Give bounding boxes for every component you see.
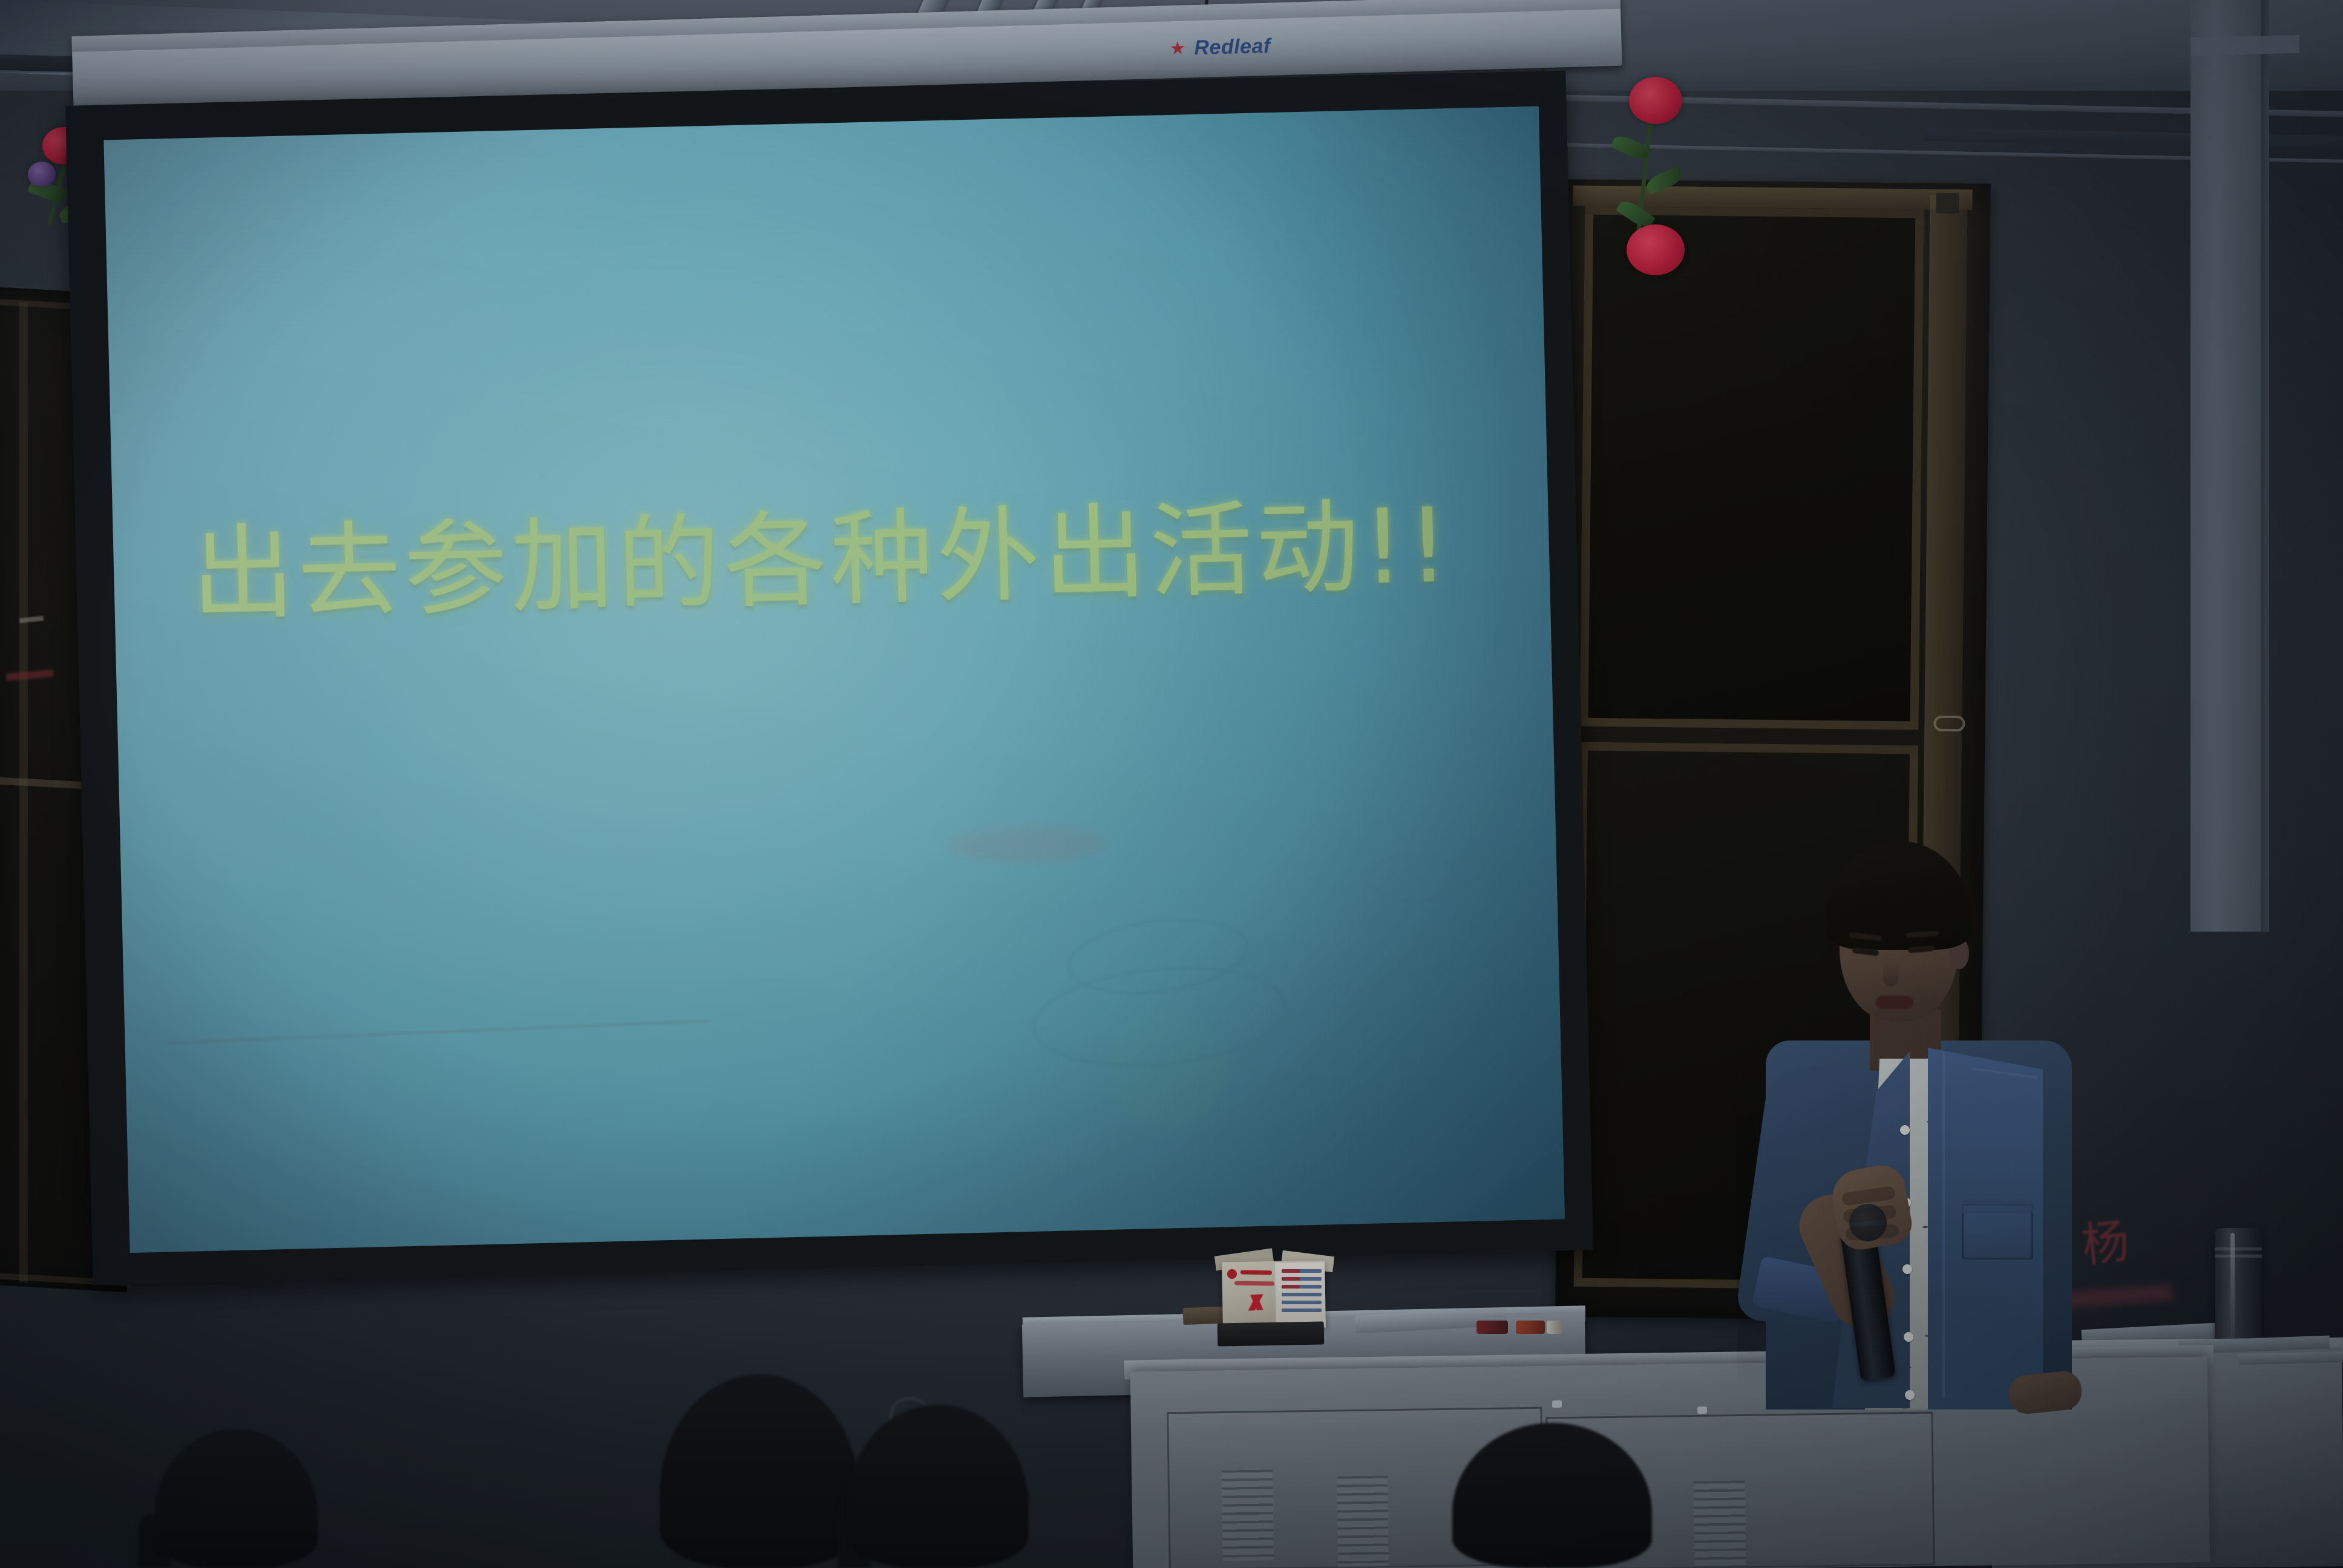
shirt-button: [1904, 1332, 1913, 1342]
marker-pen: [1516, 1321, 1545, 1334]
cabinet-vent: [1222, 1469, 1274, 1561]
thermos-ring: [2215, 1255, 2262, 1258]
board-smudge-pink: [949, 825, 1107, 864]
shirt-button: [1902, 1264, 1912, 1274]
denim-pocket-flap: [1962, 1199, 2034, 1214]
left-window-spine: [19, 302, 28, 1283]
carton-red-dot: [1227, 1269, 1237, 1279]
shirt-button: [1905, 1390, 1915, 1400]
marker-pen: [1547, 1321, 1562, 1334]
marker-pen: [1476, 1321, 1508, 1334]
slide-headline: 出去参加的各种外出活动!!: [190, 486, 1565, 632]
thermos-highlight: [2230, 1233, 2235, 1339]
star-icon: ★: [1169, 39, 1186, 58]
flower-bloom: [1627, 224, 1685, 275]
right-window-hinge: [1936, 193, 1959, 214]
cabinet-vent: [1694, 1480, 1746, 1568]
denim-seam: [1942, 1053, 1945, 1397]
wall-column-edge: [2261, 0, 2269, 932]
wall-column: [2191, 0, 2263, 932]
brand-name: Redleaf: [1194, 34, 1271, 60]
cabinet-vent: [1337, 1475, 1389, 1567]
board-smudge-line: [168, 1019, 712, 1044]
thermos-flask: [2215, 1228, 2262, 1343]
carton-red-text-lines: [1282, 1269, 1300, 1289]
flower-bloom: [1629, 77, 1682, 124]
presenter-hair: [1826, 841, 1971, 950]
board-smudge: [1368, 852, 1460, 903]
flower-bloom: [28, 162, 56, 187]
screen-sheen: [103, 106, 1565, 1253]
thermos-ring: [2215, 1247, 2262, 1250]
carton-red-line: [1234, 1281, 1274, 1285]
projection-screen-surface: 出去参加的各种外出活动!!: [103, 106, 1565, 1253]
screen-vignette: [103, 106, 1565, 1253]
carton-dark-base: [1217, 1321, 1325, 1346]
carton-red-swoosh: [1231, 1293, 1280, 1312]
cabinet-knob[interactable]: [1552, 1400, 1562, 1408]
presenter-nose: [1883, 959, 1899, 986]
photo-scene: ★ Redleaf 出去参加的各种外出活动!!: [0, 0, 2343, 1568]
right-window-pane: [1579, 206, 1924, 730]
cabinet-knob[interactable]: [1697, 1406, 1707, 1414]
presenter: [1725, 841, 2100, 1410]
carton-red-line: [1240, 1270, 1272, 1275]
shirt-button: [1900, 1125, 1910, 1135]
right-window-latch[interactable]: [1933, 716, 1965, 732]
projection-screen-frame: 出去参加的各种外出活动!!: [65, 71, 1593, 1285]
presenter-mouth: [1876, 996, 1913, 1009]
wall-column-cap: [2191, 35, 2299, 56]
screen-brand: ★ Redleaf: [1169, 34, 1271, 60]
